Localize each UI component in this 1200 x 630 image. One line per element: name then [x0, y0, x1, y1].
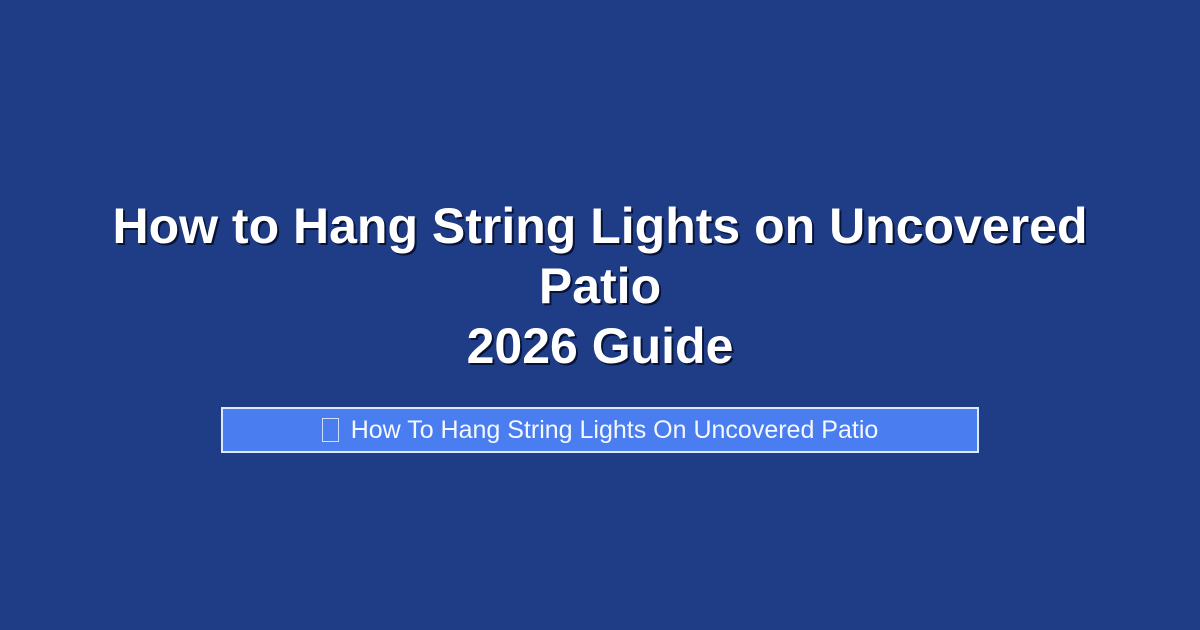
title-block: How to Hang String Lights on Uncovered P…: [80, 196, 1120, 376]
cta-badge[interactable]: □ How To Hang String Lights On Uncovered…: [221, 407, 979, 453]
missing-glyph-box-icon: □: [322, 418, 339, 442]
social-card: How to Hang String Lights on Uncovered P…: [0, 0, 1200, 630]
page-title: How to Hang String Lights on Uncovered P…: [80, 196, 1120, 376]
cta-container: □ How To Hang String Lights On Uncovered…: [0, 407, 1200, 453]
cta-badge-label: How To Hang String Lights On Uncovered P…: [351, 418, 879, 443]
